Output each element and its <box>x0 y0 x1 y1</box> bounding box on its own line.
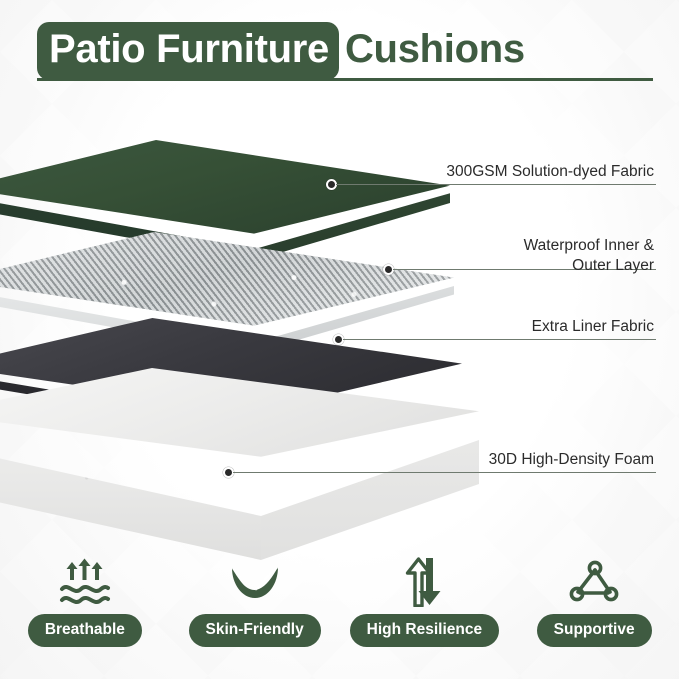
feature-label-high-resilience[interactable]: High Resilience <box>350 614 499 647</box>
header: Patio Furniture Cushions <box>0 0 679 88</box>
triangle-nodes-icon <box>569 556 619 608</box>
breathable-waves-icon <box>57 556 113 608</box>
callout-leader-foam <box>233 472 656 473</box>
feather-icon <box>226 556 284 608</box>
callout-leader-liner <box>343 339 656 340</box>
title-tail-text: Cushions <box>339 22 525 80</box>
callout-leader-fabric <box>336 184 656 185</box>
feature-breathable[interactable]: Breathable <box>5 556 165 647</box>
up-down-arrows-icon <box>401 556 447 608</box>
title-highlight-badge: Patio Furniture <box>37 22 339 80</box>
feature-high-resilience[interactable]: High Resilience <box>344 556 504 647</box>
infographic-page: Patio Furniture Cushions 300GSM So <box>0 0 679 679</box>
feature-skin-friendly[interactable]: Skin-Friendly <box>175 556 335 647</box>
callout-label-foam: 30D High-Density Foam <box>356 450 654 470</box>
feature-label-breathable[interactable]: Breathable <box>28 614 142 647</box>
feature-supportive[interactable]: Supportive <box>514 556 674 647</box>
feature-label-skin-friendly[interactable]: Skin-Friendly <box>189 614 321 647</box>
callout-label-liner: Extra Liner Fabric <box>356 317 654 337</box>
title-underline-rule <box>37 78 653 81</box>
feature-label-supportive[interactable]: Supportive <box>537 614 652 647</box>
callout-label-waterproof: Waterproof Inner & Outer Layer <box>386 236 654 277</box>
page-title: Patio Furniture Cushions <box>37 22 525 80</box>
feature-badge-row: Breathable Skin-Friendly High Resili <box>0 556 679 666</box>
callout-label-fabric: 300GSM Solution-dyed Fabric <box>356 162 654 182</box>
